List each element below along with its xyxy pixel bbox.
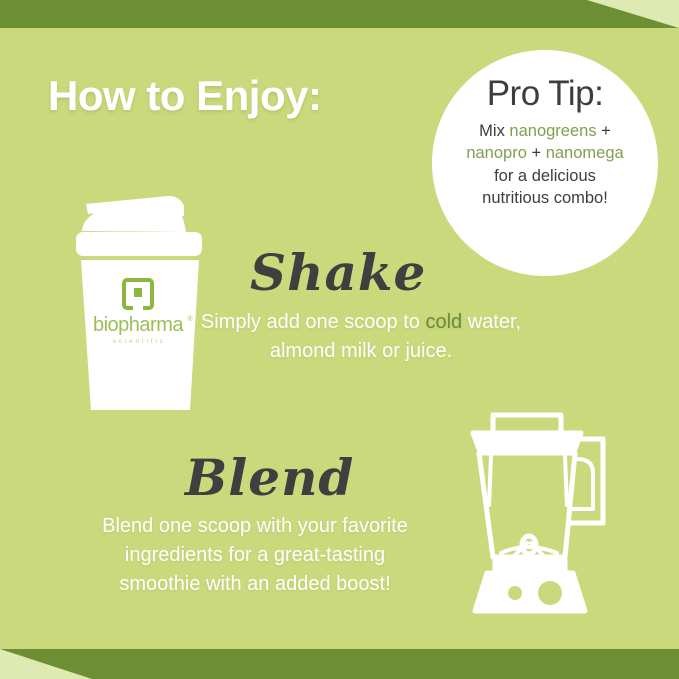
page-title: How to Enjoy:	[48, 72, 321, 120]
logo-registered-mark: ®	[187, 315, 193, 323]
pro-tip-body: Mix nanogreens + nanopro + nanomega for …	[448, 120, 642, 210]
step-heading-shake: Shake	[250, 243, 426, 302]
blend-copy-line3: smoothie with an added boost!	[119, 573, 390, 595]
pro-tip-callout: Pro Tip: Mix nanogreens + nanopro + nano…	[432, 50, 658, 276]
pro-tip-line1-suffix: +	[597, 122, 611, 140]
blender-icon	[453, 405, 633, 620]
product-nanomega: nanomega	[546, 144, 624, 162]
step-copy-blend: Blend one scoop with your favorite ingre…	[60, 512, 450, 599]
blend-copy-line2: ingredients for a great-tasting	[125, 544, 385, 566]
pro-tip-title: Pro Tip:	[448, 76, 642, 113]
pro-tip-plus: +	[527, 144, 546, 162]
shake-copy-prefix: Simply add one scoop to	[201, 311, 426, 333]
poster-canvas: How to Enjoy: Pro Tip: Mix nanogreens + …	[0, 0, 679, 679]
pro-tip-line1-prefix: Mix	[479, 122, 509, 140]
shaker-bottle-icon: biopharma ® s c i e n t i f i c	[72, 188, 212, 413]
step-heading-blend: Blend	[185, 448, 354, 507]
logo-tagline: s c i e n t i f i c	[113, 338, 164, 345]
pro-tip-line3: for a delicious	[494, 167, 596, 185]
pro-tip-line4: nutritious combo!	[482, 189, 608, 207]
bottom-banner-band	[0, 649, 679, 679]
product-nanogreens: nanogreens	[509, 122, 596, 140]
step-copy-shake: Simply add one scoop to cold water, almo…	[196, 308, 526, 366]
top-banner-band	[0, 0, 679, 28]
bottom-left-wedge	[0, 649, 92, 679]
top-right-wedge	[587, 0, 679, 28]
product-nanopro: nanopro	[466, 144, 527, 162]
logo-wordmark: biopharma	[93, 314, 184, 336]
blend-copy-line1: Blend one scoop with your favorite	[102, 515, 408, 537]
shake-copy-highlight: cold	[425, 311, 462, 333]
